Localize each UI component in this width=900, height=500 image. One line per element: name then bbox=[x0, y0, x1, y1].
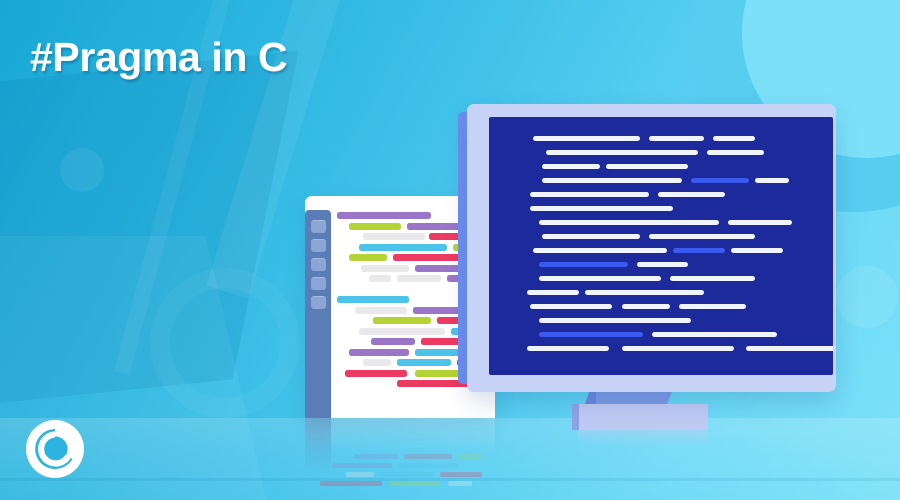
code-token bbox=[359, 244, 447, 251]
code-token bbox=[606, 164, 688, 169]
sidebar-button-1[interactable] bbox=[311, 220, 326, 233]
code-token bbox=[652, 332, 777, 337]
code-token bbox=[527, 346, 609, 351]
code-token bbox=[533, 136, 639, 141]
code-token bbox=[670, 276, 755, 281]
code-line bbox=[506, 150, 829, 155]
code-token bbox=[346, 472, 374, 477]
code-token bbox=[546, 150, 698, 155]
code-line bbox=[506, 220, 829, 225]
code-token bbox=[728, 220, 792, 225]
code-line bbox=[506, 164, 829, 169]
code-line bbox=[320, 472, 506, 477]
code-token bbox=[731, 248, 783, 253]
code-token bbox=[539, 220, 718, 225]
code-line bbox=[506, 262, 829, 267]
code-token bbox=[458, 454, 482, 459]
code-token bbox=[649, 136, 704, 141]
stand-base-reflection bbox=[578, 430, 708, 446]
code-token bbox=[397, 359, 451, 366]
code-line bbox=[506, 318, 829, 323]
code-token bbox=[345, 370, 407, 377]
code-token bbox=[539, 332, 642, 337]
code-token bbox=[337, 212, 431, 219]
monitor-stand-base bbox=[572, 404, 708, 430]
code-token bbox=[448, 481, 472, 486]
code-token bbox=[622, 346, 734, 351]
code-line bbox=[506, 290, 829, 295]
code-token bbox=[533, 248, 667, 253]
code-token bbox=[349, 349, 409, 356]
sidebar-button-3[interactable] bbox=[311, 258, 326, 271]
code-line bbox=[506, 304, 829, 309]
code-token bbox=[354, 454, 398, 459]
background-polygon-left bbox=[0, 51, 298, 423]
code-token bbox=[363, 233, 425, 240]
code-token bbox=[355, 307, 407, 314]
code-line bbox=[506, 332, 829, 337]
code-line bbox=[506, 276, 829, 281]
code-token bbox=[349, 223, 401, 230]
code-token bbox=[530, 206, 673, 211]
code-token bbox=[361, 265, 409, 272]
code-line bbox=[506, 206, 829, 211]
code-line bbox=[506, 178, 829, 183]
monitor-bezel bbox=[467, 104, 836, 392]
code-token bbox=[337, 296, 409, 303]
sidebar-button-2[interactable] bbox=[311, 239, 326, 252]
code-token bbox=[542, 178, 682, 183]
code-token bbox=[390, 481, 440, 486]
code-line bbox=[320, 454, 506, 459]
background-bubble-right bbox=[836, 266, 898, 328]
code-token bbox=[539, 318, 691, 323]
code-line bbox=[320, 481, 506, 486]
code-token bbox=[363, 359, 391, 366]
code-token bbox=[397, 275, 441, 282]
code-token bbox=[530, 192, 649, 197]
background-bubble-left bbox=[60, 148, 104, 192]
code-token bbox=[371, 338, 415, 345]
sidebar-button-5[interactable] bbox=[311, 296, 326, 309]
code-token bbox=[320, 481, 382, 486]
code-token bbox=[530, 304, 612, 309]
code-token bbox=[755, 178, 788, 183]
code-token bbox=[649, 234, 755, 239]
code-token bbox=[746, 346, 833, 351]
code-token bbox=[332, 463, 392, 468]
code-token bbox=[542, 234, 639, 239]
code-token bbox=[679, 304, 746, 309]
background-gear-ghost bbox=[150, 268, 300, 418]
editor-sidebar[interactable] bbox=[305, 210, 331, 418]
code-token bbox=[398, 463, 458, 468]
code-token bbox=[585, 290, 704, 295]
code-token bbox=[539, 276, 661, 281]
code-line bbox=[506, 248, 829, 253]
code-token bbox=[673, 248, 725, 253]
monitor-screen[interactable] bbox=[489, 117, 833, 375]
code-token bbox=[713, 136, 756, 141]
code-token bbox=[349, 254, 387, 261]
code-token bbox=[542, 164, 600, 169]
code-token bbox=[622, 304, 671, 309]
code-token bbox=[373, 317, 431, 324]
code-token bbox=[527, 290, 579, 295]
monitor-code-area bbox=[506, 136, 829, 360]
code-line bbox=[506, 346, 829, 351]
c-circle-logo bbox=[24, 418, 86, 480]
sidebar-button-4[interactable] bbox=[311, 277, 326, 290]
code-token bbox=[369, 275, 391, 282]
code-token bbox=[393, 254, 467, 261]
page-title: #Pragma in C bbox=[30, 34, 287, 81]
code-token bbox=[658, 192, 725, 197]
code-token bbox=[637, 262, 689, 267]
floor-reflection bbox=[320, 424, 506, 486]
code-line bbox=[506, 192, 829, 197]
code-token bbox=[404, 454, 452, 459]
code-token bbox=[380, 472, 434, 477]
code-token bbox=[359, 328, 445, 335]
illustration-banner: #Pragma in C bbox=[0, 0, 900, 500]
code-line bbox=[506, 234, 829, 239]
code-token bbox=[440, 472, 482, 477]
code-token bbox=[691, 178, 749, 183]
code-token bbox=[707, 150, 765, 155]
code-line bbox=[506, 136, 829, 141]
monitor-stand-base-edge bbox=[572, 404, 579, 430]
code-token bbox=[539, 262, 627, 267]
code-line bbox=[320, 463, 506, 468]
